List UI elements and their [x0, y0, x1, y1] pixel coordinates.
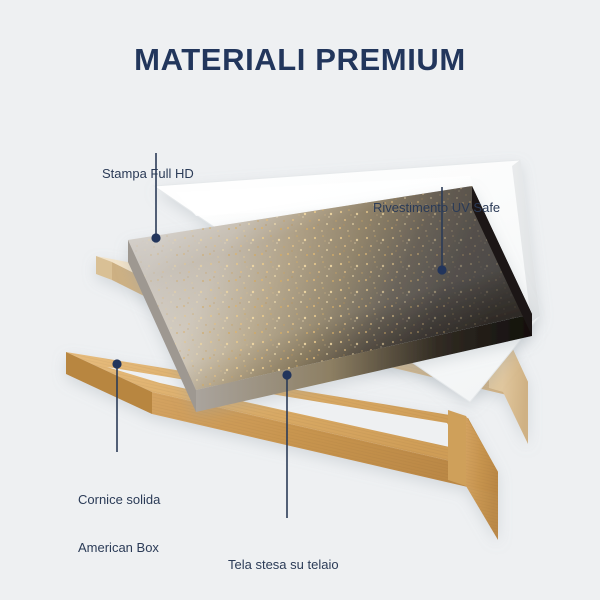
callout-dot-stampa-full-hd	[151, 233, 160, 242]
callout-dot-cornice-solida	[112, 359, 121, 368]
callout-dot-tela-stesa	[282, 370, 291, 379]
callout-line: Tela stesa su telaio	[228, 557, 339, 573]
premium-materials-infographic: MATERIALI PREMIUM	[0, 0, 600, 600]
callout-line: Cornice solida	[78, 492, 160, 508]
callout-label-rivestimento-uv-safe: Rivestimento UV Safe	[373, 168, 500, 248]
callout-label-cornice-solida-american-box: Cornice solida American Box	[78, 460, 160, 588]
callout-label-tela-stesa-su-telaio-di-legno: Tela stesa su telaio di legno	[228, 525, 339, 600]
callout-line: Stampa Full HD	[102, 166, 194, 182]
callout-line: American Box	[78, 540, 160, 556]
callout-label-stampa-full-hd: Stampa Full HD	[102, 134, 194, 214]
callout-line: Rivestimento UV Safe	[373, 200, 500, 216]
callout-dot-rivestimento-uv-safe	[437, 265, 446, 274]
